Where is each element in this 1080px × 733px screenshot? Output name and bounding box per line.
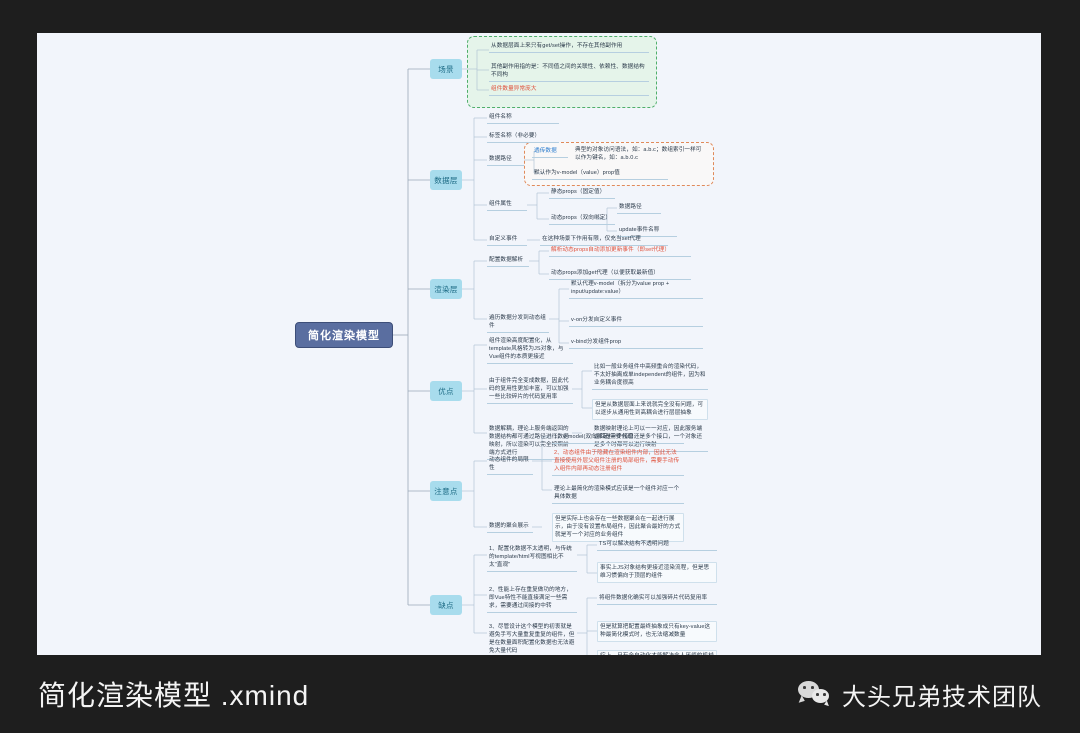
leaf-pros-4[interactable]: 但是从数据层面上来说就完全没有问题，可以逐步从通用性到高耦合进行层层抽象 — [592, 399, 708, 420]
leaf-data-2[interactable]: 标签名称（非必要） — [487, 131, 559, 143]
mindmap-surface[interactable]: 简化渲染模型 场景 从数据层面上来只有get/set操作，不存在其他副作用 其他… — [37, 33, 1041, 655]
leaf-scene-1[interactable]: 从数据层面上来只有get/set操作，不存在其他副作用 — [489, 41, 649, 53]
leaf-render-4[interactable]: 遍历数据分发到动态组件 — [487, 313, 549, 333]
leaf-cons-4[interactable]: 2、性能上存在重复做功的地方，即Vue特性不能直接满足一些需求，需要通过间接的中… — [487, 585, 577, 613]
leaf-pros-1[interactable]: 组件渲染高度配置化，从template风格转为JS对象，与Vue组件的本质更接近 — [487, 336, 573, 364]
leaf-scene-3[interactable]: 组件数量异常庞大 — [489, 84, 649, 96]
leaf-data-3[interactable]: 数据路径 — [487, 154, 524, 166]
leaf-cons-6[interactable]: 将组件数据化确实可以加强碎片代码复用率 — [597, 593, 717, 605]
leaf-data-10[interactable]: 数据路径 — [617, 202, 661, 214]
branch-node-pros[interactable]: 优点 — [430, 381, 462, 401]
leaf-render-7[interactable]: v-bind分发组件prop — [569, 337, 703, 349]
branch-node-scene[interactable]: 场景 — [430, 59, 462, 79]
leaf-render-1[interactable]: 配置数据解析 — [487, 255, 529, 267]
branch-node-render-layer[interactable]: 渲染层 — [430, 279, 462, 299]
branch-node-notes[interactable]: 注意点 — [430, 481, 462, 501]
leaf-data-7[interactable]: 组件属性 — [487, 199, 527, 211]
leaf-cons-2[interactable]: TS可以解决结构不透明问题 — [597, 539, 717, 551]
leaf-render-6[interactable]: v-on分发自定义事件 — [569, 315, 703, 327]
leaf-notes-3[interactable]: 2、动态组件由于隐藏在渲染组件内部，因此无法直接使用外层父组件注册的局部组件，需… — [552, 448, 684, 476]
leaf-notes-6[interactable]: 但是实际上也会存在一些数据聚合在一起进行展示，由于没有设置布局组件，因此聚合最好… — [552, 513, 684, 542]
leaf-cons-3[interactable]: 事实上JS对象结构更接近渲染流程，但是思维习惯偏向于顶层的组件 — [597, 562, 717, 583]
leaf-cons-7[interactable]: 但是就算把配置最终抽象成只有key-value这种最简化模式时，也无法缩减数量 — [597, 621, 717, 642]
leaf-notes-2[interactable]: 1、v-model(双向绑定)需要代理 — [552, 432, 684, 444]
brand-name: 大头兄弟技术团队 — [842, 677, 1042, 712]
leaf-data-9[interactable]: 动态props（双向绑定） — [549, 213, 615, 225]
leaf-data-passthrough[interactable]: 透传数据 — [532, 146, 568, 158]
wechat-icon — [798, 681, 832, 707]
leaf-notes-1[interactable]: 动态组件的局限性 — [487, 455, 533, 475]
leaf-pros-3[interactable]: 比如一般业务组件中高频重合的渲染代码，不太好抽离成单independent的组件… — [592, 362, 708, 390]
leaf-data-6[interactable]: 默认作为v-model（value）prop值 — [532, 168, 668, 180]
leaf-render-2[interactable]: 解析动态props自动添加更新事件（即set代理） — [549, 245, 691, 257]
branch-node-data-layer[interactable]: 数据层 — [430, 170, 462, 190]
leaf-data-13[interactable]: 在这种场景下作用有限，仅充当set代理 — [540, 234, 668, 246]
leaf-data-1[interactable]: 组件名称 — [487, 112, 559, 124]
central-topic[interactable]: 简化渲染模型 — [295, 322, 393, 348]
mindmap-canvas[interactable]: 简化渲染模型 场景 从数据层面上来只有get/set操作，不存在其他副作用 其他… — [37, 33, 1041, 655]
leaf-cons-1[interactable]: 1、配置化数据不太透明，与传统的template/html写视图相比不太"直观" — [487, 544, 577, 572]
leaf-pros-2[interactable]: 由于组件完全变成数据，因此代码的复用性更加丰富，可以加强一些比较碎片的代码复用率 — [487, 376, 573, 404]
footer-bar: 简化渲染模型 .xmind 大头兄弟技术团队 — [0, 655, 1080, 733]
leaf-notes-4[interactable]: 理论上最简化的渲染模式应该是一个组件对应一个具体数据 — [552, 484, 684, 504]
brand-block: 大头兄弟技术团队 — [798, 677, 1042, 712]
file-title: 简化渲染模型 .xmind — [38, 674, 309, 714]
leaf-cons-5[interactable]: 3、尽管设计这个模型的初衷就是避免手写大量重复重复的组件，但是在数量面积配置化数… — [487, 622, 577, 655]
leaf-notes-5[interactable]: 数据的聚合展示 — [487, 521, 533, 533]
leaf-data-12[interactable]: 自定义事件 — [487, 234, 527, 246]
leaf-data-5[interactable]: 典型的对象访问语法，如：a.b.c；数组索引一样可以作为键名，如：a.b.0.c — [573, 145, 707, 164]
branch-node-cons[interactable]: 缺点 — [430, 595, 462, 615]
leaf-render-3[interactable]: 动态props添加get代理（以便获取最新值） — [549, 268, 691, 280]
leaf-scene-2[interactable]: 其他副作用指的是：不同值之间的关联性、依赖性、数据结构不同构 — [489, 62, 649, 82]
leaf-render-5[interactable]: 默认代理v-model（拆分为value prop + input/update… — [569, 279, 703, 299]
leaf-data-8[interactable]: 静态props（固定值） — [549, 187, 615, 199]
